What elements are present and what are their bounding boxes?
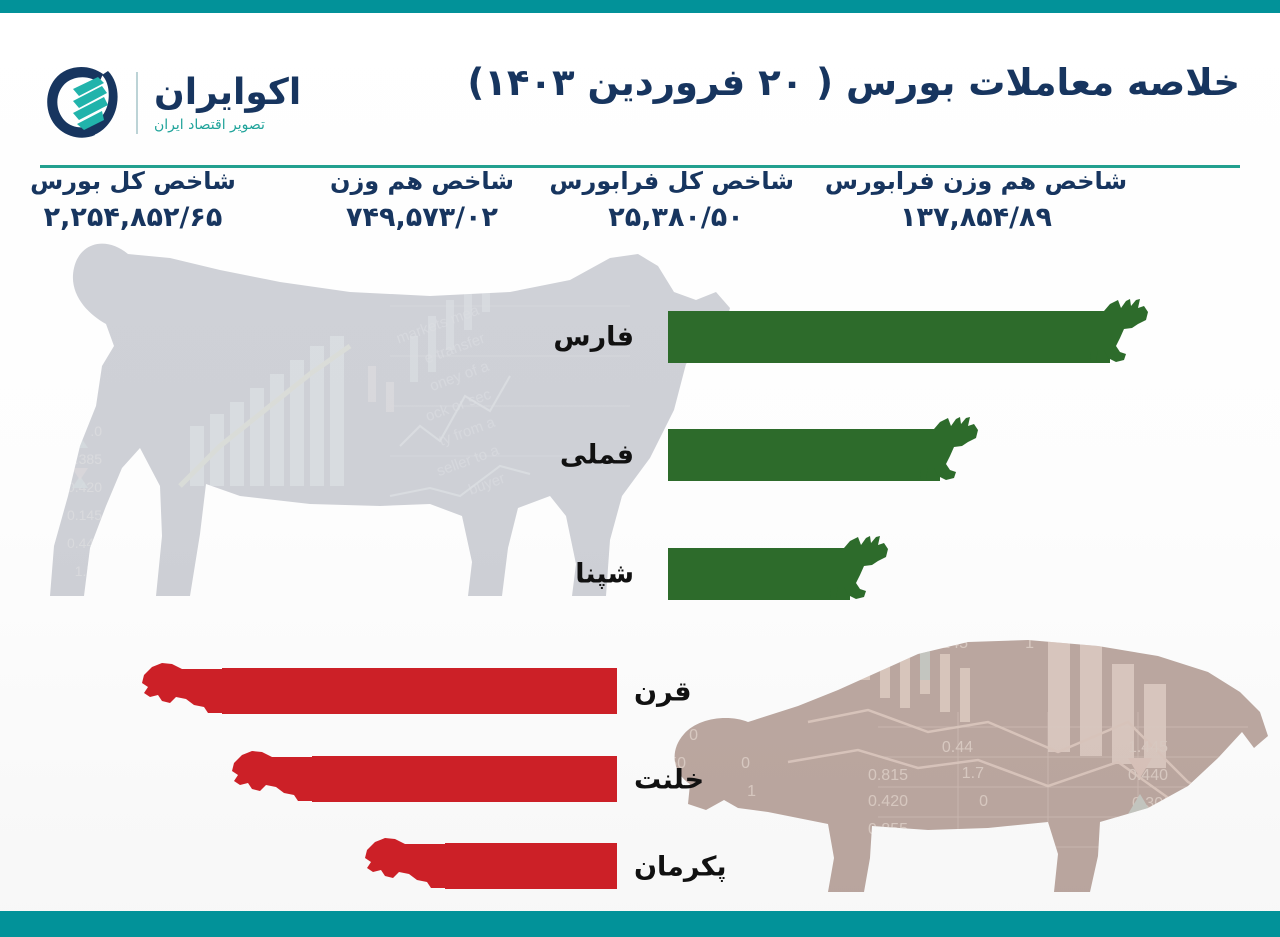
bull-bar [668, 311, 1110, 363]
bear-icon [142, 655, 238, 727]
header: خلاصه معاملات بورس ( ۲۰ فروردین ۱۴۰۳) اک… [0, 13, 1280, 153]
bear-icon [232, 743, 328, 815]
index-card-total-bourse: شاخص کل بورس ۲,۲۵۴,۸۵۲/۶۵ [0, 168, 266, 233]
index-value: ۷۴۹,۵۷۳/۰۲ [304, 202, 540, 233]
index-card-equal-weight: شاخص هم وزن ۷۴۹,۵۷۳/۰۲ [304, 168, 540, 233]
bear-bar [445, 843, 617, 889]
table-row: خلنت [0, 743, 1280, 817]
logo-tagline: تصویر اقتصاد ایران [154, 118, 265, 132]
logo-emblem-icon [42, 62, 120, 144]
logo-name: اکوایران [154, 75, 301, 111]
bar-label: فملی [560, 440, 634, 471]
table-row: شپنا [0, 537, 1280, 611]
bear-bar [222, 668, 617, 714]
index-card-total-farabourse: شاخص کل فرابورس ۲۵,۳۸۰/۵۰ [558, 168, 794, 233]
bull-icon [804, 535, 890, 613]
impact-bar-chart: فارس فملی شپنا [0, 270, 1280, 900]
index-label: شاخص کل فرابورس [558, 168, 794, 196]
brand-logo: اکوایران تصویر اقتصاد ایران [42, 53, 312, 153]
index-value: ۲۵,۳۸۰/۵۰ [558, 202, 794, 233]
table-row: فملی [0, 418, 1280, 492]
index-card-equal-weight-farabourse: شاخص هم وزن فرابورس ۱۳۷,۸۵۴/۸۹ [816, 168, 1136, 233]
index-value: ۱۳۷,۸۵۴/۸۹ [816, 202, 1136, 233]
bull-icon [894, 416, 980, 494]
index-summary-row: شاخص کل بورس ۲,۲۵۴,۸۵۲/۶۵ شاخص هم وزن ۷۴… [0, 168, 1280, 260]
logo-divider [136, 72, 138, 134]
table-row: قرن [0, 655, 1280, 729]
bear-icon [365, 830, 461, 902]
bar-label: پکرمان [634, 852, 727, 883]
page-title: خلاصه معاملات بورس ( ۲۰ فروردین ۱۴۰۳) [467, 61, 1240, 104]
bar-label: خلنت [634, 765, 704, 796]
index-value: ۲,۲۵۴,۸۵۲/۶۵ [0, 202, 266, 233]
bear-bar [312, 756, 617, 802]
index-label: شاخص کل بورس [0, 168, 266, 196]
index-label: شاخص هم وزن [304, 168, 540, 196]
bar-label: فارس [553, 322, 634, 353]
bar-label: قرن [634, 677, 692, 708]
index-label: شاخص هم وزن فرابورس [816, 168, 1136, 196]
bull-icon [1064, 298, 1150, 376]
infographic-canvas: markets mea e transfer oney of a ock or … [0, 0, 1280, 937]
bar-label: شپنا [575, 559, 634, 590]
top-accent-band [0, 0, 1280, 13]
logo-wordmark: اکوایران تصویر اقتصاد ایران [154, 75, 301, 132]
table-row: فارس [0, 300, 1280, 374]
bottom-accent-band [0, 911, 1280, 937]
table-row: پکرمان [0, 830, 1280, 904]
